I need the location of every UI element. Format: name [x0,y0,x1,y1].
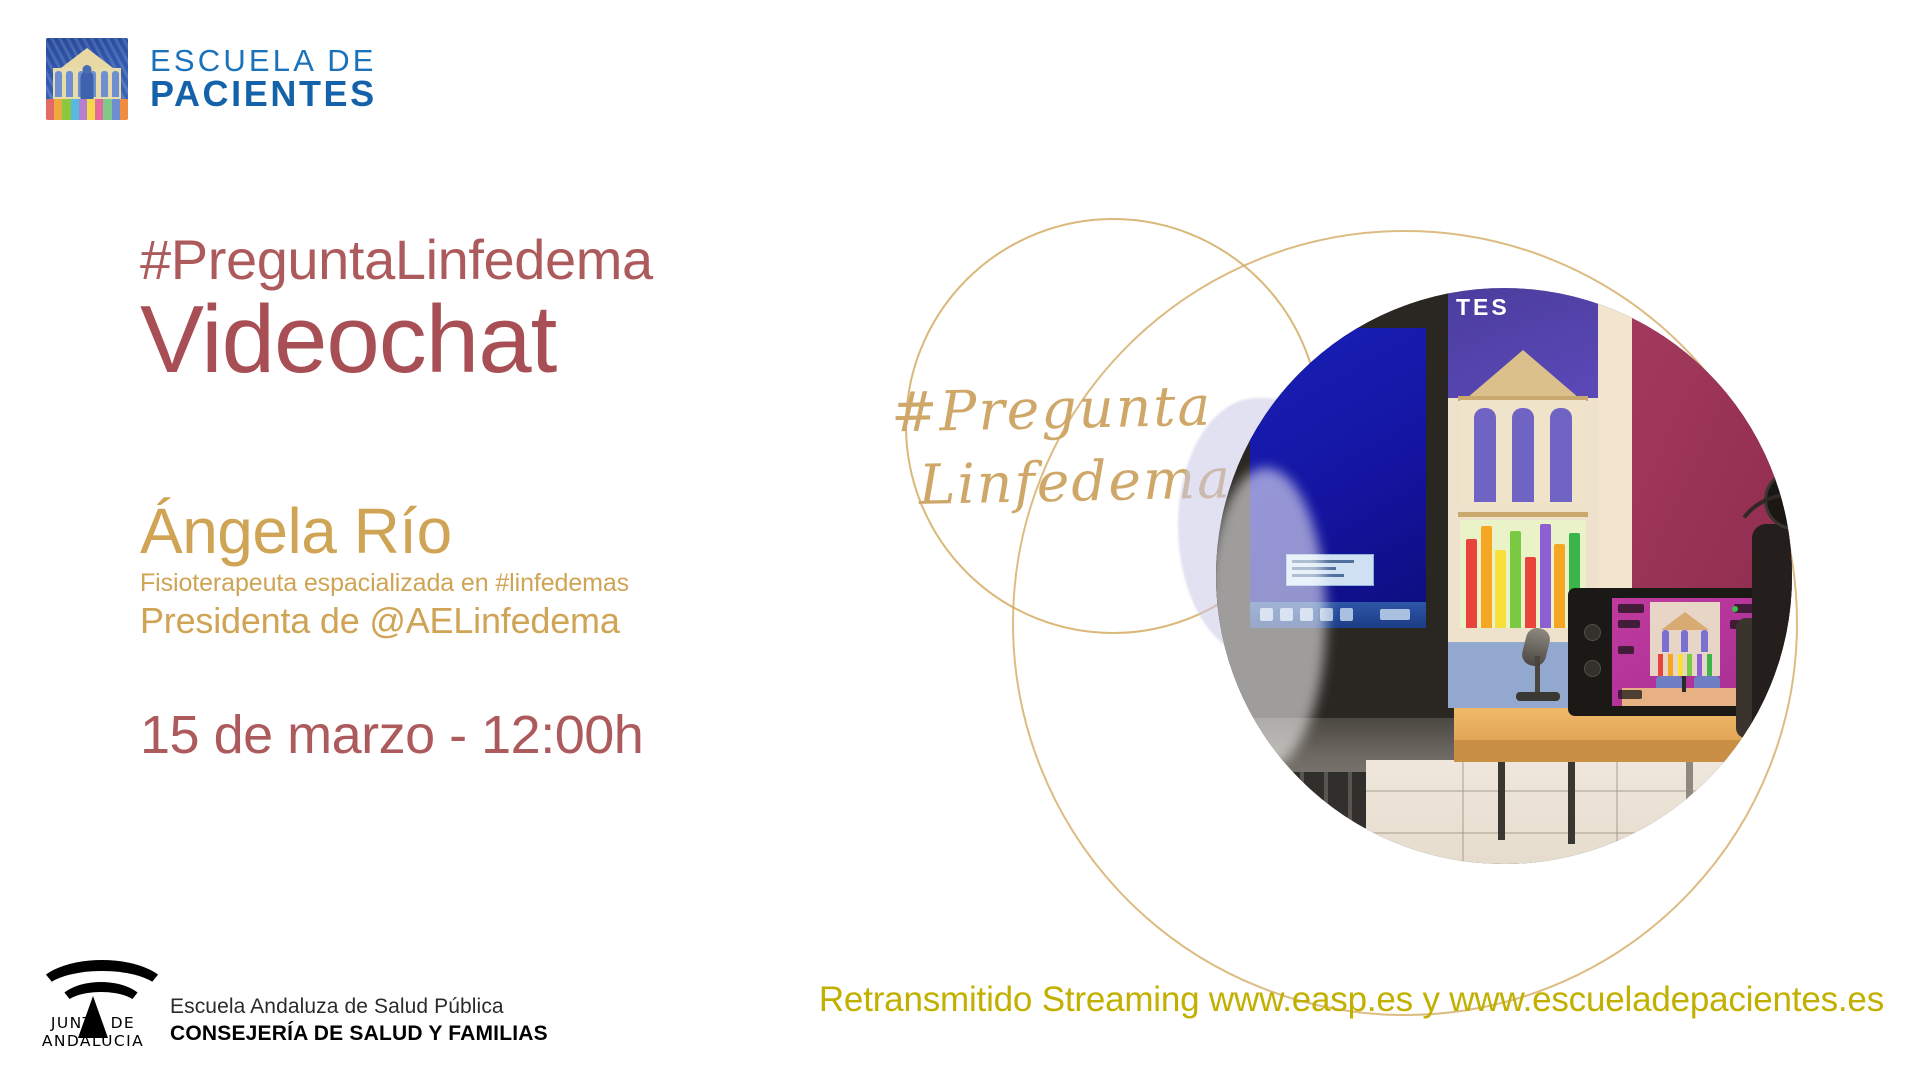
easp-name: Escuela Andaluza de Salud Pública [170,995,548,1019]
escuela-pacientes-building-icon [46,38,128,120]
brand-line-2: PACIENTES [150,76,377,113]
junta-wordmark: JUNTA DE ANDALUCIA [30,1014,156,1050]
junta-text-block: Escuela Andaluza de Salud Pública CONSEJ… [170,995,548,1050]
studio-photo: TES [1216,288,1792,864]
junta-andalucia-logo: JUNTA DE ANDALUCIA Escuela Andaluza de S… [30,952,548,1050]
event-hashtag: #PreguntaLinfedema [140,232,930,288]
consejeria-name: CONSEJERÍA DE SALUD Y FAMILIAS [170,1022,548,1046]
page-title: Videochat [140,290,930,390]
brand-line-1: ESCUELA DE [150,45,377,77]
speaker-block: Ángela Río Fisioterapeuta espacializada … [140,498,930,642]
speaker-name: Ángela Río [140,498,930,565]
main-copy-block: #PreguntaLinfedema Videochat Ángela Río … [140,232,930,766]
tiled-floor [1366,760,1792,864]
brand-wordmark: ESCUELA DE PACIENTES [150,45,377,113]
banner-text: TES [1456,294,1606,321]
brand-logo: ESCUELA DE PACIENTES [46,38,377,120]
speaker-role: Fisioterapeuta espacializada en #linfede… [140,569,930,598]
poster-canvas: ESCUELA DE PACIENTES #PreguntaLinfedema … [0,0,1920,1080]
event-datetime: 15 de marzo - 12:00h [140,704,930,766]
speaker-organization: Presidenta de @AELinfedema [140,600,930,642]
junta-andalucia-arcs-icon: JUNTA DE ANDALUCIA [30,952,156,1050]
video-camera-body [1752,524,1792,764]
streaming-info: Retransmitido Streaming www.easp.es y ww… [819,980,1884,1020]
